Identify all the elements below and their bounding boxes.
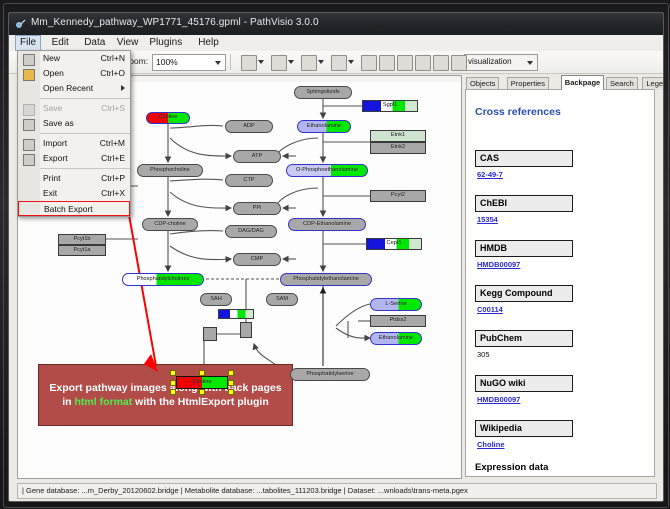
save-disk-icon	[23, 104, 35, 116]
pathway-node-choline[interactable]: Choline	[146, 112, 190, 124]
save-as-icon	[23, 119, 35, 131]
same-height-button[interactable]	[451, 55, 467, 71]
pathway-node-cmp[interactable]: CMP	[233, 253, 281, 266]
xref-source-label: Kegg Compound	[480, 288, 553, 298]
xref-header-nugo-wiki: NuGO wiki	[475, 375, 573, 392]
stack-horizontal-button[interactable]	[415, 55, 431, 71]
menu-edit[interactable]: Edit	[48, 36, 73, 50]
align-left-button[interactable]	[379, 55, 395, 71]
pathway-node-label: DAG/DAG	[238, 229, 264, 235]
xref-source-label: CAS	[480, 153, 499, 163]
file-menu-item-print[interactable]: PrintCtrl+P	[18, 171, 130, 186]
cross-references-title: Cross references	[475, 106, 561, 118]
pathway-node-l-serine[interactable]: L-Serine	[370, 298, 422, 311]
xref-header-hmdb: HMDB	[475, 240, 573, 257]
xref-link-kegg-compound[interactable]: C00114	[477, 305, 503, 314]
pathway-node-label: Etnk1	[391, 133, 405, 139]
pathway-node-pcyt2[interactable]: Pcyt2	[370, 190, 426, 202]
pathway-node-phosphatidylcholines[interactable]: Phosphatidylcholines	[122, 273, 204, 286]
side-panel-tabs: ObjectsPropertiesBackpageSearchLegend	[465, 75, 655, 89]
pathway-node-phosphatidylserine[interactable]: Phosphatidylserine	[290, 368, 370, 381]
desktop-backdrop: Mm_Kennedy_pathway_WP1771_45176.gpml - P…	[0, 0, 670, 509]
datanode-button[interactable]	[241, 55, 257, 71]
menu-data[interactable]: Data	[80, 36, 109, 50]
chevron-down-icon[interactable]	[318, 60, 324, 64]
xref-source-label: ChEBI	[480, 198, 507, 208]
toolbar-separator	[230, 54, 231, 70]
pathway-node-pemt-box[interactable]	[240, 322, 252, 338]
file-menu-label: Exit	[43, 188, 57, 198]
pathway-node-label: Ethanolamine	[307, 124, 341, 130]
label-button[interactable]	[271, 55, 287, 71]
line-button[interactable]	[301, 55, 317, 71]
xref-link-cas[interactable]: 62-49-7	[477, 170, 503, 179]
file-menu-shortcut: Ctrl+X	[101, 188, 125, 198]
menu-file[interactable]: File	[15, 35, 41, 51]
file-menu-shortcut: Ctrl+S	[101, 103, 125, 113]
visualization-combobox[interactable]: visualization	[464, 54, 538, 71]
pathway-node-sgpl1[interactable]: Sgpl1	[362, 100, 418, 112]
file-menu-dropdown[interactable]: NewCtrl+NOpenCtrl+OOpen RecentSaveCtrl+S…	[17, 50, 131, 217]
pathway-node-label: Phosphocholine	[150, 168, 190, 174]
file-menu-item-exit[interactable]: ExitCtrl+X	[18, 186, 130, 201]
pathway-node-chka-box[interactable]	[203, 327, 217, 341]
pathway-node-cdp-ethanolamine[interactable]: CDP-Ethanolamine	[288, 218, 366, 231]
pathway-node-phosphatidylethanolamine[interactable]: Phosphatidylethanolamine	[280, 273, 372, 286]
pathway-node-label: CMP	[251, 257, 263, 263]
stack-vertical-button[interactable]	[397, 55, 413, 71]
file-menu-items: NewCtrl+NOpenCtrl+OOpen RecentSaveCtrl+S…	[18, 51, 130, 216]
file-menu-item-save-as[interactable]: Save as	[18, 116, 130, 131]
interaction-button[interactable]	[331, 55, 347, 71]
xref-header-cas: CAS	[475, 150, 573, 167]
same-width-button[interactable]	[433, 55, 449, 71]
pathway-node-label: ADP	[243, 124, 255, 130]
file-menu-shortcut: Ctrl+P	[101, 173, 125, 183]
pathway-node-sah[interactable]: SAH	[200, 293, 232, 306]
pathway-node-label: SAM	[276, 297, 288, 303]
xref-header-kegg-compound: Kegg Compound	[475, 285, 573, 302]
status-bar-text: | Gene database: ...m_Derby_20120602.bri…	[22, 486, 468, 495]
pathway-node-ppi[interactable]: PPi	[233, 202, 281, 215]
pathway-node-label: PPi	[253, 206, 262, 212]
file-menu-item-export[interactable]: ExportCtrl+E	[18, 151, 130, 166]
xref-source-label: HMDB	[480, 243, 507, 253]
pathway-node-label: Choline	[159, 115, 178, 121]
pathway-node-cept1[interactable]: Cept1	[366, 238, 422, 250]
side-panel: ObjectsPropertiesBackpageSearchLegend Cr…	[465, 75, 655, 477]
open-folder-icon	[23, 69, 35, 81]
pathway-node-cdp-choline[interactable]: CDP-choline	[142, 218, 198, 231]
tab-backpage[interactable]: Backpage	[561, 75, 604, 90]
pathvisio-icon	[15, 18, 27, 30]
pathway-node-etnk2[interactable]: Etnk2	[370, 142, 426, 154]
visualization-value: visualization	[468, 57, 512, 66]
xref-source-label: NuGO wiki	[480, 378, 526, 388]
pathway-node-ptdss2[interactable]: Ptdss2	[370, 315, 426, 327]
pathway-node-label: CTP	[243, 178, 254, 184]
backpage-panel: Cross references CAS62-49-7ChEBI15354HMD…	[465, 89, 655, 477]
menu-separator	[40, 168, 130, 169]
pathway-node-label: ATP	[252, 154, 262, 160]
pathway-node-label: Choline	[193, 380, 212, 386]
annotation-callout: Export pathway images along with back pa…	[38, 364, 293, 426]
file-menu-item-batch-export[interactable]: Batch Export	[18, 201, 130, 216]
pathway-node-label: Phosphatidylethanolamine	[293, 277, 359, 283]
file-menu-label: Import	[43, 138, 67, 148]
menu-help[interactable]: Help	[194, 36, 223, 50]
file-menu-label: Batch Export	[44, 204, 93, 214]
file-menu-item-new[interactable]: NewCtrl+N	[18, 51, 130, 66]
pathway-node-label: L-Serine	[385, 302, 406, 308]
pathway-node-label: Sphingolipids	[306, 90, 339, 96]
pathway-node-blue-green-box[interactable]	[218, 309, 254, 319]
file-menu-label: Save as	[43, 118, 74, 128]
pathway-node-label: Cept1	[387, 241, 402, 247]
chevron-down-icon	[527, 61, 533, 65]
new-document-icon	[23, 54, 35, 66]
chevron-right-icon	[121, 85, 125, 91]
file-menu-item-save: SaveCtrl+S	[18, 101, 130, 116]
xref-header-wikipedia: Wikipedia	[475, 420, 573, 437]
expression-data-title: Expression data	[475, 462, 548, 473]
pathway-node-ethanolamine[interactable]: Ethanolamine	[297, 120, 351, 133]
pathway-node-label: Ptdss2	[389, 318, 406, 324]
title-bar: Mm_Kennedy_pathway_WP1771_45176.gpml - P…	[9, 13, 663, 35]
pathway-node-phosphocholine[interactable]: Phosphocholine	[137, 164, 203, 177]
pathway-node-etnk1[interactable]: Etnk1	[370, 130, 426, 142]
pathway-node-o-phosphoethanolamine[interactable]: O-Phosphoethanolamine	[286, 164, 368, 177]
pathway-node-label: Phosphatidylcholines	[137, 277, 190, 283]
file-menu-label: Open Recent	[43, 83, 93, 93]
annotation-callout-text: Export pathway images along with back pa…	[39, 381, 292, 409]
xref-link-hmdb[interactable]: HMDB00097	[477, 260, 520, 269]
pathvisio-window: Mm_Kennedy_pathway_WP1771_45176.gpml - P…	[8, 12, 664, 502]
pathway-node-label: Sgpl1	[383, 103, 397, 109]
window-title: Mm_Kennedy_pathway_WP1771_45176.gpml - P…	[31, 17, 319, 28]
chevron-down-icon[interactable]	[288, 60, 294, 64]
pathway-node-label: SAH	[210, 297, 222, 303]
pathway-node-adp[interactable]: ADP	[225, 120, 273, 133]
import-icon	[23, 139, 35, 151]
chevron-down-icon	[215, 61, 221, 65]
pathway-node-pcyt1a[interactable]: Pcyt1a	[58, 245, 106, 256]
menu-separator	[40, 98, 130, 99]
file-menu-shortcut: Ctrl+N	[101, 53, 125, 63]
xref-link-chebi[interactable]: 15354	[477, 215, 498, 224]
pathway-node-label: Etnk2	[391, 145, 405, 151]
xref-source-label: Wikipedia	[480, 423, 522, 433]
annotation-highlight: html format	[75, 396, 133, 408]
pathway-node-sphingolipids[interactable]: Sphingolipids	[294, 86, 352, 99]
file-menu-label: Open	[43, 68, 64, 78]
chevron-down-icon[interactable]	[258, 60, 264, 64]
pathway-node-dagdag[interactable]: DAG/DAG	[225, 225, 277, 238]
menu-view[interactable]: View	[113, 36, 143, 50]
file-menu-label: New	[43, 53, 60, 63]
menu-plugins[interactable]: Plugins	[145, 36, 186, 50]
file-menu-item-open[interactable]: OpenCtrl+O	[18, 66, 130, 81]
status-bar: | Gene database: ...m_Derby_20120602.bri…	[17, 483, 657, 499]
xref-link-nugo-wiki[interactable]: HMDB00097	[477, 395, 520, 404]
xref-header-pubchem: PubChem	[475, 330, 573, 347]
xref-value-pubchem: 305	[477, 350, 490, 359]
pathway-node-ethanolamine2[interactable]: Ethanolamine	[370, 332, 422, 345]
pathway-node-ctp[interactable]: CTP	[225, 174, 273, 187]
file-menu-item-open-recent[interactable]: Open Recent	[18, 81, 130, 96]
file-menu-shortcut: Ctrl+E	[101, 153, 125, 163]
zoom-value: 100%	[156, 57, 178, 67]
xref-header-chebi: ChEBI	[475, 195, 573, 212]
file-menu-label: Print	[43, 173, 60, 183]
pathway-node-label: Pcyt1b	[73, 237, 90, 243]
pathway-node-label: Ethanolamine	[379, 336, 413, 342]
pathway-node-label: Pcyt2	[391, 193, 405, 199]
menu-separator	[40, 133, 130, 134]
pathway-node-label: CDP-Ethanolamine	[303, 222, 351, 228]
export-icon	[23, 154, 35, 166]
chevron-down-icon[interactable]	[348, 60, 354, 64]
pathway-node-atp[interactable]: ATP	[233, 150, 281, 163]
xref-source-label: PubChem	[480, 333, 522, 343]
file-menu-label: Export	[43, 153, 68, 163]
file-menu-label: Save	[43, 103, 62, 113]
xref-link-wikipedia[interactable]: Choline	[477, 440, 505, 449]
pathway-node-label: Phosphatidylserine	[306, 372, 353, 378]
file-menu-shortcut: Ctrl+O	[100, 68, 125, 78]
align-top-button[interactable]	[361, 55, 377, 71]
file-menu-item-import[interactable]: ImportCtrl+M	[18, 136, 130, 151]
pathway-node-label: O-Phosphoethanolamine	[296, 168, 358, 174]
pathway-node-pcyt1b[interactable]: Pcyt1b	[58, 234, 106, 245]
pathway-node-sam[interactable]: SAM	[266, 293, 298, 306]
file-menu-shortcut: Ctrl+M	[100, 138, 125, 148]
pathway-node-label: CDP-choline	[154, 222, 185, 228]
zoom-combobox[interactable]: 100%	[152, 54, 226, 71]
pathway-node-label: Pcyt1a	[73, 248, 90, 254]
